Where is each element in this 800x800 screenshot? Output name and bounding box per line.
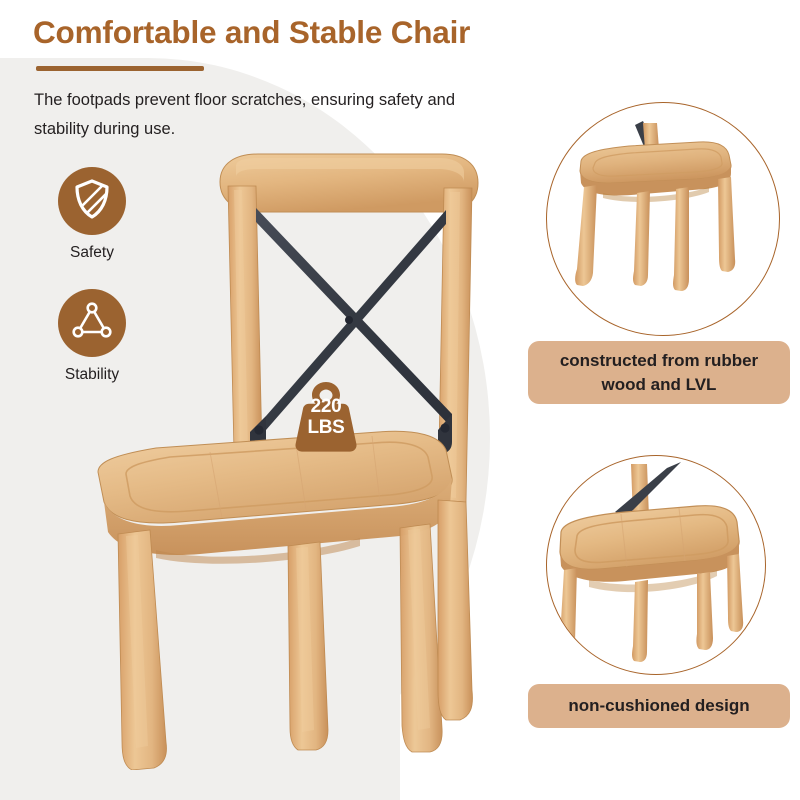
chair-seat-photo xyxy=(547,456,763,672)
callout-wood-material: constructed from rubber wood and LVL xyxy=(528,341,790,404)
page-title: Comfortable and Stable Chair xyxy=(33,14,470,51)
chair-legs-photo xyxy=(547,103,777,333)
main-chair-image xyxy=(60,130,510,770)
weight-value-text: 220 LBS xyxy=(291,396,361,438)
weight-number: 220 xyxy=(291,396,361,417)
title-underline xyxy=(36,66,204,71)
infographic-page: Comfortable and Stable Chair The footpad… xyxy=(0,0,800,800)
callout-cushion-design: non-cushioned design xyxy=(528,684,790,728)
weight-unit: LBS xyxy=(291,417,361,438)
detail-circle-seat xyxy=(546,455,766,675)
cross-back-chair-photo xyxy=(60,130,510,770)
weight-capacity-badge: 220 LBS xyxy=(291,378,361,454)
detail-circle-legs xyxy=(546,102,780,336)
